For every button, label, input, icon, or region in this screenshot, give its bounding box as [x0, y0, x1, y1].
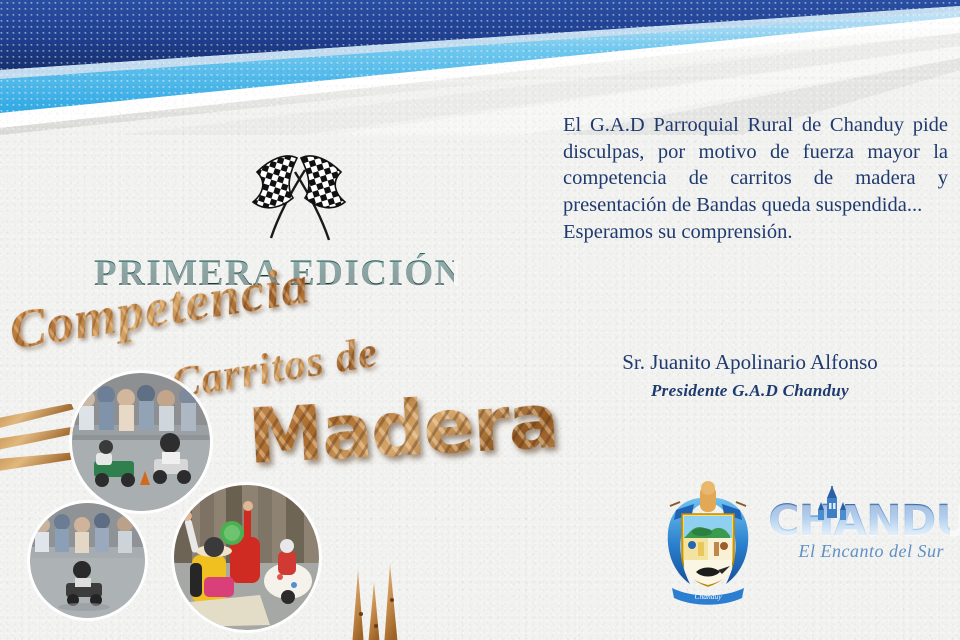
logo-row: Chanduy: [540, 478, 960, 618]
wood-spike: [0, 451, 72, 472]
coat-of-arms-banner-text: Chanduy: [694, 592, 722, 601]
chanduy-coat-of-arms: Chanduy: [662, 480, 754, 608]
notice-message: El G.A.D Parroquial Rural de Chanduy pid…: [563, 112, 948, 245]
wood-spike: [0, 404, 75, 429]
notice-paragraph: El G.A.D Parroquial Rural de Chanduy pid…: [563, 112, 948, 219]
notice-closing: Esperamos su comprensión.: [563, 219, 948, 246]
left-graphic-column: PRIMERA EDICIÓN Competencia Carritos de …: [0, 0, 520, 640]
right-message-column: El G.A.D Parroquial Rural de Chanduy pid…: [540, 0, 960, 640]
photo-winners: [174, 485, 319, 630]
wood-spike: [352, 570, 364, 640]
wood-spike: [384, 564, 398, 640]
wood-title-madera: Madera: [246, 376, 560, 481]
wooden-spikes-bottom: [330, 556, 422, 640]
photo-lone-cart: [30, 503, 145, 618]
wood-spike: [368, 582, 380, 640]
signature-title: Presidente G.A.D Chanduy: [540, 381, 960, 401]
chanduy-wordmark-text: CHANDUY: [768, 500, 950, 543]
checkered-racing-flags-icon: [233, 142, 365, 247]
photo-race-start: [72, 373, 210, 511]
wooden-spikes-left: [0, 404, 82, 484]
signature-name: Sr. Juanito Apolinario Alfonso: [540, 350, 960, 375]
wood-spike: [0, 427, 76, 451]
chanduy-wordmark: CHANDUY El Encanto del Sur: [768, 500, 950, 592]
church-tower-icon: [812, 486, 852, 526]
poster-canvas: PRIMERA EDICIÓN Competencia Carritos de …: [0, 0, 960, 640]
